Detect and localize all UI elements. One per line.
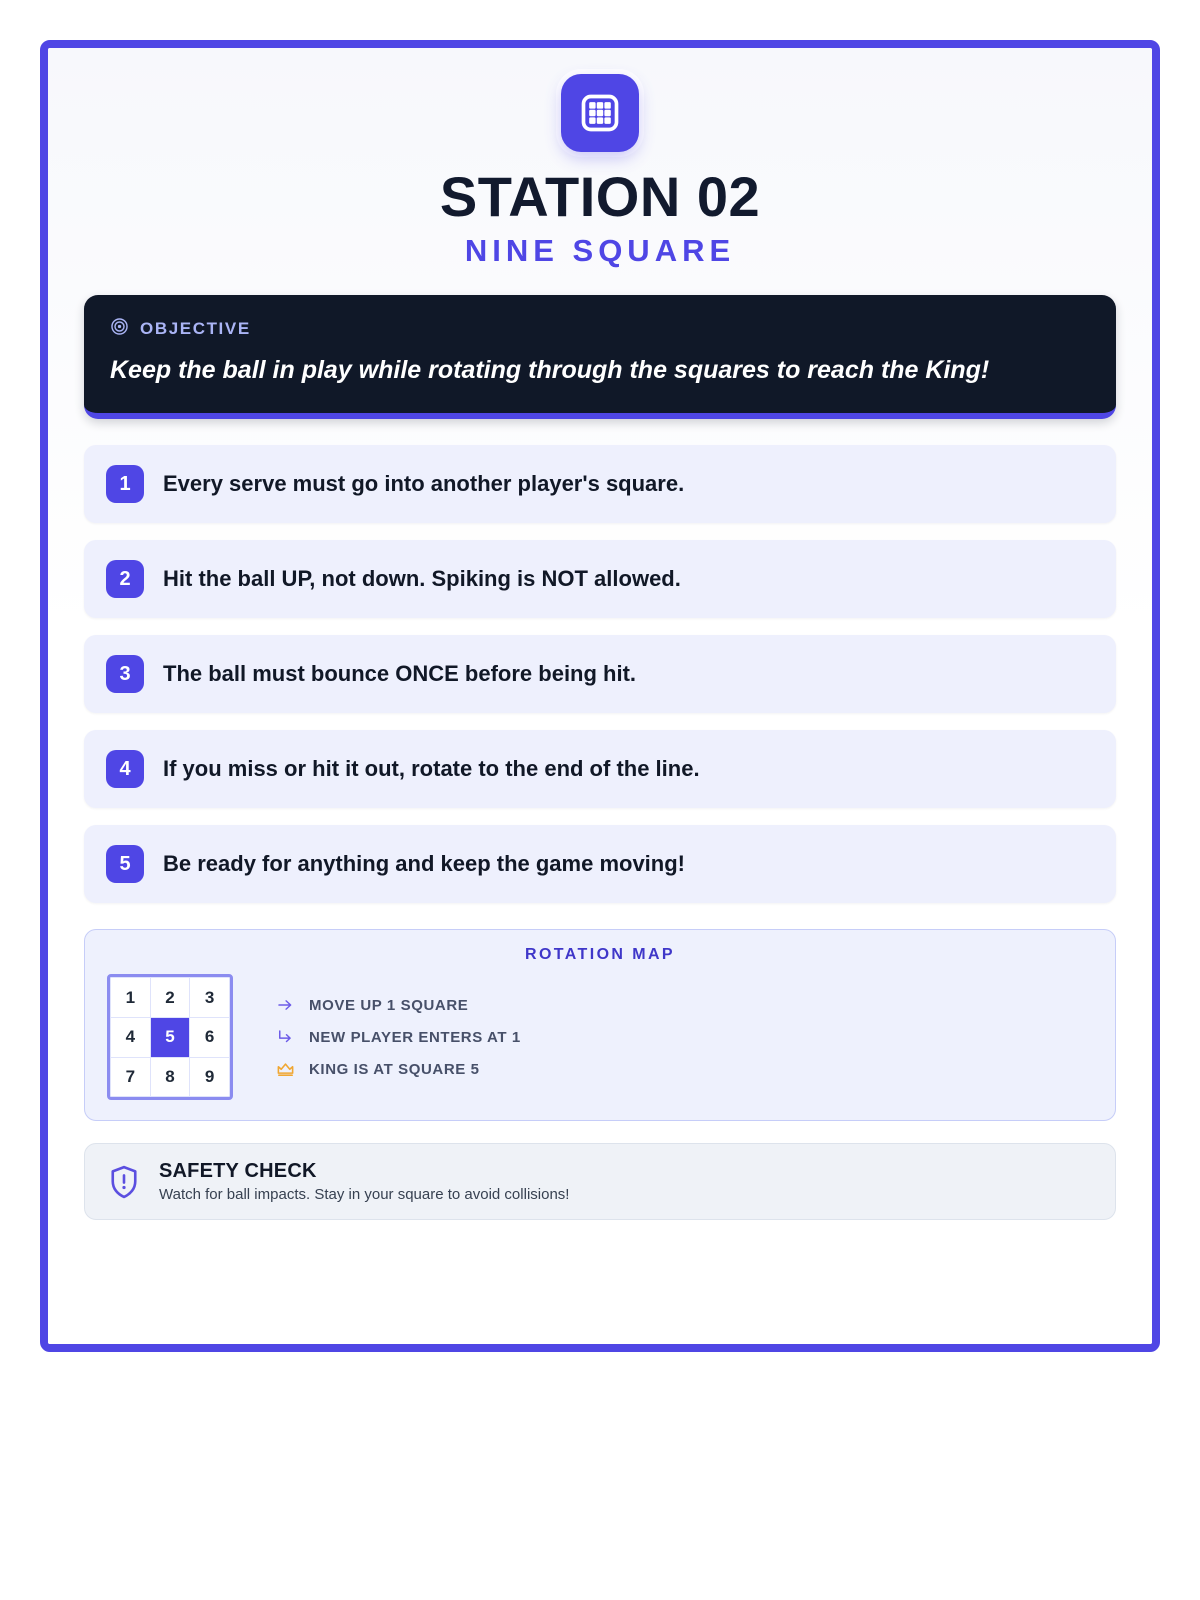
shield-alert-icon xyxy=(107,1164,141,1200)
arrow-turn-down-right-icon xyxy=(275,1027,295,1047)
safety-check-title: SAFETY CHECK xyxy=(159,1160,569,1183)
grid-cell: 3 xyxy=(190,978,229,1017)
station-header: STATION 02 NINE SQUARE xyxy=(84,70,1116,269)
rule-number-badge: 1 xyxy=(106,465,144,503)
objective-label: OBJECTIVE xyxy=(140,319,251,339)
page-root: STATION 02 NINE SQUARE OBJECTIVE Keep th… xyxy=(0,0,1200,1600)
rule-text: If you miss or hit it out, rotate to the… xyxy=(163,756,700,782)
safety-check-panel: SAFETY CHECK Watch for ball impacts. Sta… xyxy=(84,1143,1116,1220)
legend-item: KING IS AT SQUARE 5 xyxy=(275,1059,521,1079)
safety-check-description: Watch for ball impacts. Stay in your squ… xyxy=(159,1186,569,1203)
objective-text: Keep the ball in play while rotating thr… xyxy=(110,352,1090,390)
rule-item: 2 Hit the ball UP, not down. Spiking is … xyxy=(84,540,1116,618)
safety-check-text-group: SAFETY CHECK Watch for ball impacts. Sta… xyxy=(159,1160,569,1203)
grid-cell: 7 xyxy=(111,1058,150,1097)
legend-label: MOVE UP 1 SQUARE xyxy=(309,997,468,1014)
grid-cell: 6 xyxy=(190,1018,229,1057)
nine-square-grid: 1 2 3 4 5 6 7 8 9 xyxy=(107,974,233,1100)
rule-text: Hit the ball UP, not down. Spiking is NO… xyxy=(163,566,681,592)
crown-icon xyxy=(275,1059,295,1079)
grid-cell-king: 5 xyxy=(151,1018,190,1057)
rule-item: 5 Be ready for anything and keep the gam… xyxy=(84,825,1116,903)
rotation-legend: MOVE UP 1 SQUARE NEW PLAYER ENTERS AT 1 xyxy=(275,995,521,1079)
legend-label: NEW PLAYER ENTERS AT 1 xyxy=(309,1029,521,1046)
nine-square-grid-icon xyxy=(561,74,639,152)
station-card: STATION 02 NINE SQUARE OBJECTIVE Keep th… xyxy=(40,40,1160,1352)
rule-text: Be ready for anything and keep the game … xyxy=(163,851,685,877)
rule-text: The ball must bounce ONCE before being h… xyxy=(163,661,636,687)
rotation-map-title: ROTATION MAP xyxy=(107,946,1093,964)
rule-text: Every serve must go into another player'… xyxy=(163,471,684,497)
grid-cell: 1 xyxy=(111,978,150,1017)
rule-item: 1 Every serve must go into another playe… xyxy=(84,445,1116,523)
rule-number-badge: 5 xyxy=(106,845,144,883)
station-card-inner: STATION 02 NINE SQUARE OBJECTIVE Keep th… xyxy=(48,48,1152,1344)
objective-header: OBJECTIVE xyxy=(110,317,1090,341)
grid-cell: 2 xyxy=(151,978,190,1017)
rotation-map-panel: ROTATION MAP 1 2 3 4 5 6 7 8 9 xyxy=(84,929,1116,1121)
grid-cell: 9 xyxy=(190,1058,229,1097)
legend-item: NEW PLAYER ENTERS AT 1 xyxy=(275,1027,521,1047)
target-icon xyxy=(110,317,129,341)
rule-item: 4 If you miss or hit it out, rotate to t… xyxy=(84,730,1116,808)
page-subtitle: NINE SQUARE xyxy=(84,233,1116,269)
rule-number-badge: 2 xyxy=(106,560,144,598)
rotation-map-body: 1 2 3 4 5 6 7 8 9 xyxy=(107,974,1093,1100)
arrow-right-icon xyxy=(275,995,295,1015)
rule-item: 3 The ball must bounce ONCE before being… xyxy=(84,635,1116,713)
rules-list: 1 Every serve must go into another playe… xyxy=(84,445,1116,903)
page-title: STATION 02 xyxy=(84,168,1116,227)
grid-cell: 8 xyxy=(151,1058,190,1097)
objective-panel: OBJECTIVE Keep the ball in play while ro… xyxy=(84,295,1116,420)
rule-number-badge: 3 xyxy=(106,655,144,693)
grid-cell: 4 xyxy=(111,1018,150,1057)
rule-number-badge: 4 xyxy=(106,750,144,788)
legend-label: KING IS AT SQUARE 5 xyxy=(309,1061,480,1078)
legend-item: MOVE UP 1 SQUARE xyxy=(275,995,521,1015)
